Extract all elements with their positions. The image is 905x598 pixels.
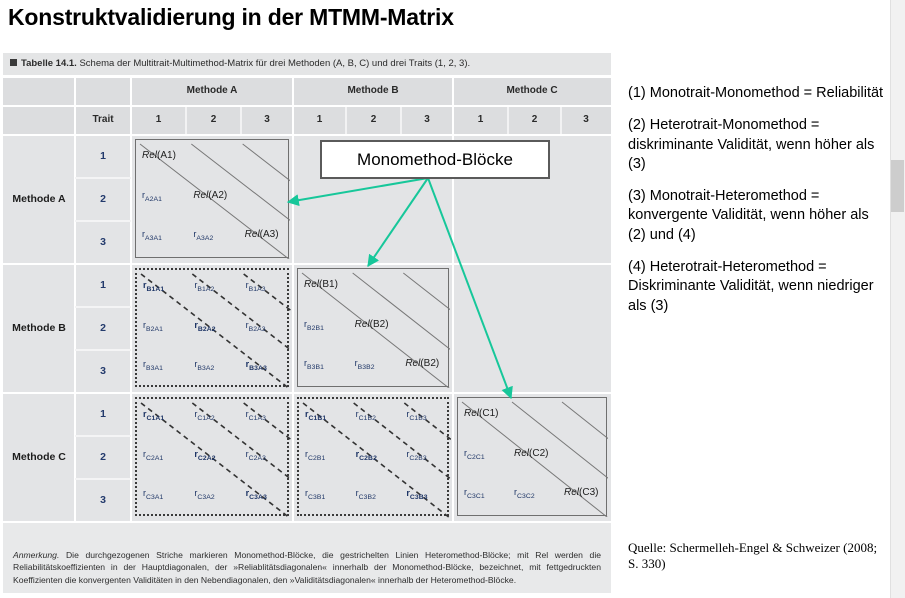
matrix-cell-r3-c7 bbox=[508, 263, 561, 306]
diagonal-line-2 bbox=[562, 402, 608, 442]
header-trait-col-7: 2 bbox=[508, 105, 561, 134]
diagonal-line-0 bbox=[140, 144, 290, 259]
row-trait-label-7: 2 bbox=[75, 435, 131, 478]
coef-ca-4: rC2A2 bbox=[194, 449, 215, 462]
coef-cb-0: rC1B1 bbox=[305, 409, 326, 422]
legend-item-2: (2) Heterotrait-Monomethod = diskriminan… bbox=[628, 116, 890, 174]
legend-item-1: (1) Monotrait-Monomethod = Reliabilität bbox=[628, 84, 890, 103]
header-col-divider-2 bbox=[240, 105, 242, 134]
legend-panel: (1) Monotrait-Monomethod = Reliabilität(… bbox=[628, 84, 890, 329]
grid-hline-0 bbox=[3, 76, 611, 78]
matrix-cell-r1-c4 bbox=[346, 177, 401, 220]
vertical-scrollbar-track[interactable] bbox=[890, 0, 905, 598]
coef-ca-8: rC3A3 bbox=[246, 488, 267, 501]
header-trait-col-1: 2 bbox=[186, 105, 241, 134]
coef-bb-4: rB3B2 bbox=[355, 358, 375, 371]
diagonal-line-1 bbox=[191, 144, 290, 223]
matrix-cell-r4-c6 bbox=[453, 306, 508, 349]
row-group-label-c: Methode C bbox=[3, 392, 75, 521]
header-trait-col-3: 1 bbox=[293, 105, 346, 134]
header-trait-col-2: 3 bbox=[241, 105, 293, 134]
legend-item-4: (4) Heterotrait-Heteromethod = Diskrimin… bbox=[628, 258, 890, 316]
trait-row-divider-7 bbox=[75, 435, 131, 437]
coef-bb-1: rB2B1 bbox=[304, 319, 324, 332]
matrix-cell-r1-c6 bbox=[453, 177, 508, 220]
coef-ba-6: rB3A1 bbox=[143, 359, 163, 372]
coef-ca-3: rC2A1 bbox=[143, 449, 163, 462]
matrix-cell-r2-c3 bbox=[293, 220, 346, 263]
matrix-cell-r2-c8 bbox=[561, 220, 611, 263]
coef-aa-1: rA2A1 bbox=[142, 190, 162, 203]
callout-monomethod-bloecke: Monomethod-Blöcke bbox=[320, 140, 550, 179]
coef-ba-7: rB3A2 bbox=[194, 359, 214, 372]
diagonal-line-1 bbox=[353, 273, 450, 352]
legend-item-3: (3) Monotrait-Heteromethod = konvergente… bbox=[628, 187, 890, 245]
coef-cb-5: rC2B3 bbox=[406, 449, 426, 462]
coef-bb-5: Rel(B2) bbox=[405, 358, 439, 369]
note-label: Anmerkung. bbox=[13, 550, 59, 560]
matrix-cell-r0-c8 bbox=[561, 134, 611, 177]
matrix-cell-r1-c7 bbox=[508, 177, 561, 220]
caption-text: Schema der Multitrait-Multimethod-Matrix… bbox=[79, 58, 470, 69]
trait-row-divider-8 bbox=[75, 478, 131, 480]
row-trait-label-2: 3 bbox=[75, 220, 131, 263]
coef-ba-3: rB2A1 bbox=[143, 320, 163, 333]
header-trait-col-8: 3 bbox=[561, 105, 611, 134]
coef-ca-2: rC1A3 bbox=[246, 409, 266, 422]
coef-bb-3: rB3B1 bbox=[304, 358, 324, 371]
grid-hline-1 bbox=[3, 105, 611, 107]
coef-ca-7: rC3A2 bbox=[194, 488, 214, 501]
coef-cb-7: rC3B2 bbox=[356, 488, 376, 501]
header-col-divider-5 bbox=[400, 105, 402, 134]
header-rowlabel-blank bbox=[3, 105, 75, 134]
matrix-block-ba: rB1A1rB1A2rB1A3rB2A1rB2A2rB2A3rB3A1rB3A2… bbox=[135, 268, 289, 387]
diagonal-line-0 bbox=[302, 273, 450, 388]
coef-ba-0: rB1A1 bbox=[143, 280, 164, 293]
matrix-cell-r2-c7 bbox=[508, 220, 561, 263]
matrix-cell-r2-c4 bbox=[346, 220, 401, 263]
grid-vline-0 bbox=[74, 76, 76, 521]
row-trait-label-5: 3 bbox=[75, 349, 131, 392]
header-col-divider-8 bbox=[560, 105, 562, 134]
coef-ca-5: rC2A3 bbox=[246, 449, 266, 462]
row-trait-label-8: 3 bbox=[75, 478, 131, 521]
matrix-cell-r5-c7 bbox=[508, 349, 561, 392]
row-trait-label-6: 1 bbox=[75, 392, 131, 435]
grid-hline-4 bbox=[3, 392, 611, 394]
matrix-cell-r4-c8 bbox=[561, 306, 611, 349]
coef-ba-4: rB2A2 bbox=[194, 320, 215, 333]
source-text: Quelle: Schermelleh-Engel & Schweizer (2… bbox=[628, 540, 877, 571]
matrix-cell-r3-c6 bbox=[453, 263, 508, 306]
header-trait-col-0: 1 bbox=[131, 105, 186, 134]
coef-aa-5: Rel(A3) bbox=[245, 229, 279, 240]
grid-hline-2 bbox=[3, 134, 611, 136]
header-method-b: Methode B bbox=[293, 76, 453, 105]
header-col-divider-7 bbox=[507, 105, 509, 134]
diagonal-line-2 bbox=[243, 144, 290, 184]
header-corner-blank bbox=[3, 76, 131, 105]
coef-cc-3: rC3C1 bbox=[464, 487, 485, 500]
grid-vline-2 bbox=[292, 76, 294, 521]
coef-ba-5: rB2A3 bbox=[246, 320, 266, 333]
trait-row-divider-2 bbox=[75, 220, 131, 222]
header-method-c: Methode C bbox=[453, 76, 611, 105]
matrix-cell-r5-c6 bbox=[453, 349, 508, 392]
coef-aa-2: Rel(A2) bbox=[193, 190, 227, 201]
row-trait-label-4: 2 bbox=[75, 306, 131, 349]
grid-vline-1 bbox=[130, 76, 132, 521]
coef-aa-4: rA3A2 bbox=[193, 229, 213, 242]
header-trait-col-4: 2 bbox=[346, 105, 401, 134]
table-caption: Tabelle 14.1. Schema der Multitrait-Mult… bbox=[3, 53, 611, 76]
coef-ba-1: rB1A2 bbox=[194, 280, 214, 293]
trait-row-divider-5 bbox=[75, 349, 131, 351]
coef-cc-5: Rel(C3) bbox=[564, 487, 598, 498]
coef-cb-1: rC1B2 bbox=[356, 409, 376, 422]
row-group-label-b: Methode B bbox=[3, 263, 75, 392]
coef-cc-4: rC3C2 bbox=[514, 487, 535, 500]
row-trait-label-1: 2 bbox=[75, 177, 131, 220]
coef-ca-1: rC1A2 bbox=[194, 409, 214, 422]
coef-cb-8: rC3B3 bbox=[406, 488, 427, 501]
matrix-block-cc: Rel(C1)rC2C1Rel(C2)rC3C1rC3C2Rel(C3) bbox=[457, 397, 607, 516]
matrix-block-aa: Rel(A1)rA2A1Rel(A2)rA3A1rA3A2Rel(A3) bbox=[135, 139, 289, 258]
trait-row-divider-4 bbox=[75, 306, 131, 308]
matrix-block-bb: Rel(B1)rB2B1Rel(B2)rB3B1rB3B2Rel(B2) bbox=[297, 268, 449, 387]
coef-ca-0: rC1A1 bbox=[143, 409, 164, 422]
page-title: Konstruktvalidierung in der MTMM-Matrix bbox=[8, 4, 608, 31]
matrix-cell-r3-c8 bbox=[561, 263, 611, 306]
header-trait-col-5: 3 bbox=[401, 105, 453, 134]
coef-aa-3: rA3A1 bbox=[142, 229, 162, 242]
diagonal-line-1 bbox=[512, 402, 608, 481]
coef-cb-2: rC1B3 bbox=[406, 409, 426, 422]
matrix-cell-r4-c7 bbox=[508, 306, 561, 349]
coef-cc-1: rC2C1 bbox=[464, 448, 485, 461]
diagonal-line-2 bbox=[403, 273, 450, 313]
coef-bb-0: Rel(B1) bbox=[304, 279, 338, 290]
caption-label: Tabelle 14.1. bbox=[21, 58, 77, 69]
mtmm-table: Tabelle 14.1. Schema der Multitrait-Mult… bbox=[3, 53, 611, 593]
row-trait-label-0: 1 bbox=[75, 134, 131, 177]
coef-aa-0: Rel(A1) bbox=[142, 150, 176, 161]
header-col-divider-1 bbox=[185, 105, 187, 134]
row-group-label-a: Methode A bbox=[3, 134, 75, 263]
header-trait-col-6: 1 bbox=[453, 105, 508, 134]
grid-hline-5 bbox=[3, 521, 611, 523]
source-citation: Quelle: Schermelleh-Engel & Schweizer (2… bbox=[628, 540, 890, 573]
grid-hline-3 bbox=[3, 263, 611, 265]
note-text: Die durchgezogenen Striche markieren Mon… bbox=[13, 550, 601, 585]
coef-cb-4: rC2B2 bbox=[356, 449, 377, 462]
coef-ba-8: rB3A3 bbox=[246, 359, 267, 372]
table-note: Anmerkung. Die durchgezogenen Striche ma… bbox=[3, 543, 611, 592]
matrix-cell-r5-c8 bbox=[561, 349, 611, 392]
header-method-a: Methode A bbox=[131, 76, 293, 105]
coef-ba-2: rB1A3 bbox=[246, 280, 266, 293]
matrix-cell-r2-c5 bbox=[401, 220, 453, 263]
matrix-cell-r2-c6 bbox=[453, 220, 508, 263]
header-col-divider-4 bbox=[345, 105, 347, 134]
coef-bb-2: Rel(B2) bbox=[355, 319, 389, 330]
trait-row-divider-1 bbox=[75, 177, 131, 179]
coef-cb-6: rC3B1 bbox=[305, 488, 325, 501]
matrix-cell-r1-c5 bbox=[401, 177, 453, 220]
vertical-scrollbar-thumb[interactable] bbox=[891, 160, 904, 212]
matrix-block-ca: rC1A1rC1A2rC1A3rC2A1rC2A2rC2A3rC3A1rC3A2… bbox=[135, 397, 289, 516]
coef-cc-0: Rel(C1) bbox=[464, 408, 498, 419]
matrix-cell-r1-c8 bbox=[561, 177, 611, 220]
matrix-cell-r1-c3 bbox=[293, 177, 346, 220]
matrix-block-cb: rC1B1rC1B2rC1B3rC2B1rC2B2rC2B3rC3B1rC3B2… bbox=[297, 397, 449, 516]
header-trait-label: Trait bbox=[75, 105, 131, 134]
coef-cc-2: Rel(C2) bbox=[514, 448, 548, 459]
coef-ca-6: rC3A1 bbox=[143, 488, 163, 501]
coef-cb-3: rC2B1 bbox=[305, 449, 325, 462]
callout-label: Monomethod-Blöcke bbox=[357, 150, 513, 170]
row-trait-label-3: 1 bbox=[75, 263, 131, 306]
caption-bullet-icon bbox=[10, 59, 17, 66]
